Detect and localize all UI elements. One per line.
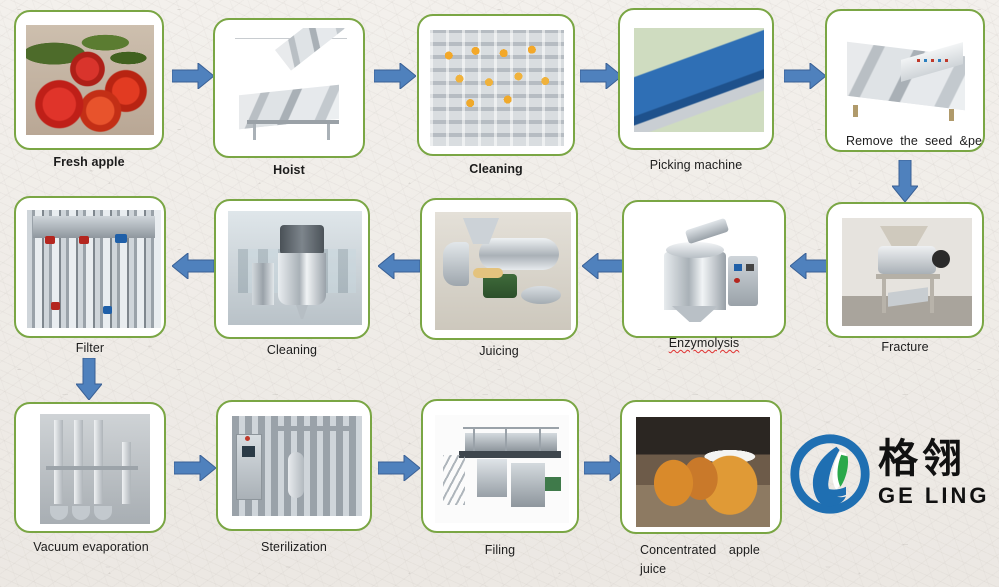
arrow-cleaning-to-filter (172, 253, 214, 279)
step-card-filter[interactable] (14, 196, 166, 338)
geling-emblem-icon (790, 434, 870, 514)
step-label-fresh-apple: Fresh apple (14, 153, 164, 172)
photo-crusher (842, 218, 972, 326)
logo-latin-name: GE LING (878, 484, 989, 508)
photo-enzymolysis-tank (642, 216, 772, 330)
step-card-fresh-apple[interactable] (14, 10, 164, 150)
photo-filling-machine (435, 415, 569, 523)
company-logo: 格翎 GE LING (790, 432, 970, 518)
step-label-remove-seed: Remove the seed &peel (846, 132, 985, 151)
logo-chinese-name: 格翎 (878, 436, 989, 482)
step-label-vacuum-evaporation: Vacuum evaporation (6, 538, 176, 557)
photo-screw-juicer (435, 212, 571, 330)
step-card-fracture[interactable] (826, 202, 984, 338)
arrow-remove-to-fracture (892, 160, 918, 202)
photo-filtration-skid (27, 210, 161, 328)
arrow-steril-to-filling (378, 455, 420, 481)
step-card-cleaning-2[interactable] (214, 199, 370, 339)
photo-juice-jars (636, 417, 770, 527)
step-label-cleaning-2: Cleaning (214, 341, 370, 360)
step-card-juicing[interactable] (420, 198, 578, 340)
step-label-sterilization: Sterilization (216, 538, 372, 557)
arrow-picking-to-remove (784, 63, 826, 89)
arrow-apple-to-hoist (172, 63, 214, 89)
photo-bubble-washing-machine (430, 30, 564, 146)
step-card-cleaning-1[interactable] (417, 14, 575, 156)
arrow-filter-to-evaporation (76, 358, 102, 400)
photo-evaporator (40, 414, 150, 524)
step-label-enzymolysis: Enzymolysis (622, 334, 786, 353)
step-card-vacuum-evaporation[interactable] (14, 402, 166, 533)
step-label-fracture: Fracture (826, 338, 984, 357)
photo-seed-removal-machine (839, 37, 975, 127)
step-card-filling[interactable] (421, 399, 579, 533)
step-card-product[interactable] (620, 400, 782, 534)
photo-mixing-tank (228, 211, 362, 325)
step-label-filter: Filter (14, 339, 166, 358)
step-label-juicing: Juicing (420, 342, 578, 361)
photo-uht-sterilizer (232, 416, 362, 516)
step-card-hoist[interactable] (213, 18, 365, 158)
photo-blue-sorting-conveyor (634, 28, 764, 132)
step-card-enzymolysis[interactable] (622, 200, 786, 338)
step-card-picking[interactable] (618, 8, 774, 150)
step-label-cleaning-1: Cleaning (417, 160, 575, 179)
arrow-enzymolysis-to-juicing (582, 253, 624, 279)
arrow-juicing-to-cleaning (378, 253, 420, 279)
photo-apples (26, 25, 154, 135)
photo-hoist-conveyor (223, 28, 359, 148)
step-label-picking: Picking machine (618, 156, 774, 175)
arrow-cleaning-to-picking (580, 63, 622, 89)
step-label-hoist: Hoist (213, 161, 365, 180)
arrow-evaporation-to-steril (174, 455, 216, 481)
step-label-filling: Filing (421, 541, 579, 560)
step-card-remove-seed[interactable]: Remove the seed &peel (825, 9, 985, 152)
step-card-sterilization[interactable] (216, 400, 372, 531)
step-label-product: Concentrated apple juice (640, 541, 760, 580)
arrow-hoist-to-cleaning (374, 63, 416, 89)
